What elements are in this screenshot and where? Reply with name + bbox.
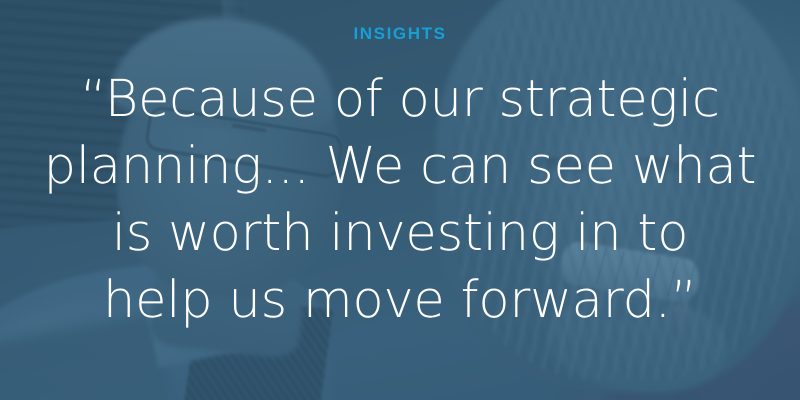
slide-content: INSIGHTS “Because of our strategic plann… [0, 0, 800, 400]
eyebrow-label-insights: INSIGHTS [353, 25, 446, 42]
insights-quote-slide: INSIGHTS “Because of our strategic plann… [0, 0, 800, 400]
pull-quote-text: “Because of our strategic planning... We… [40, 66, 760, 334]
